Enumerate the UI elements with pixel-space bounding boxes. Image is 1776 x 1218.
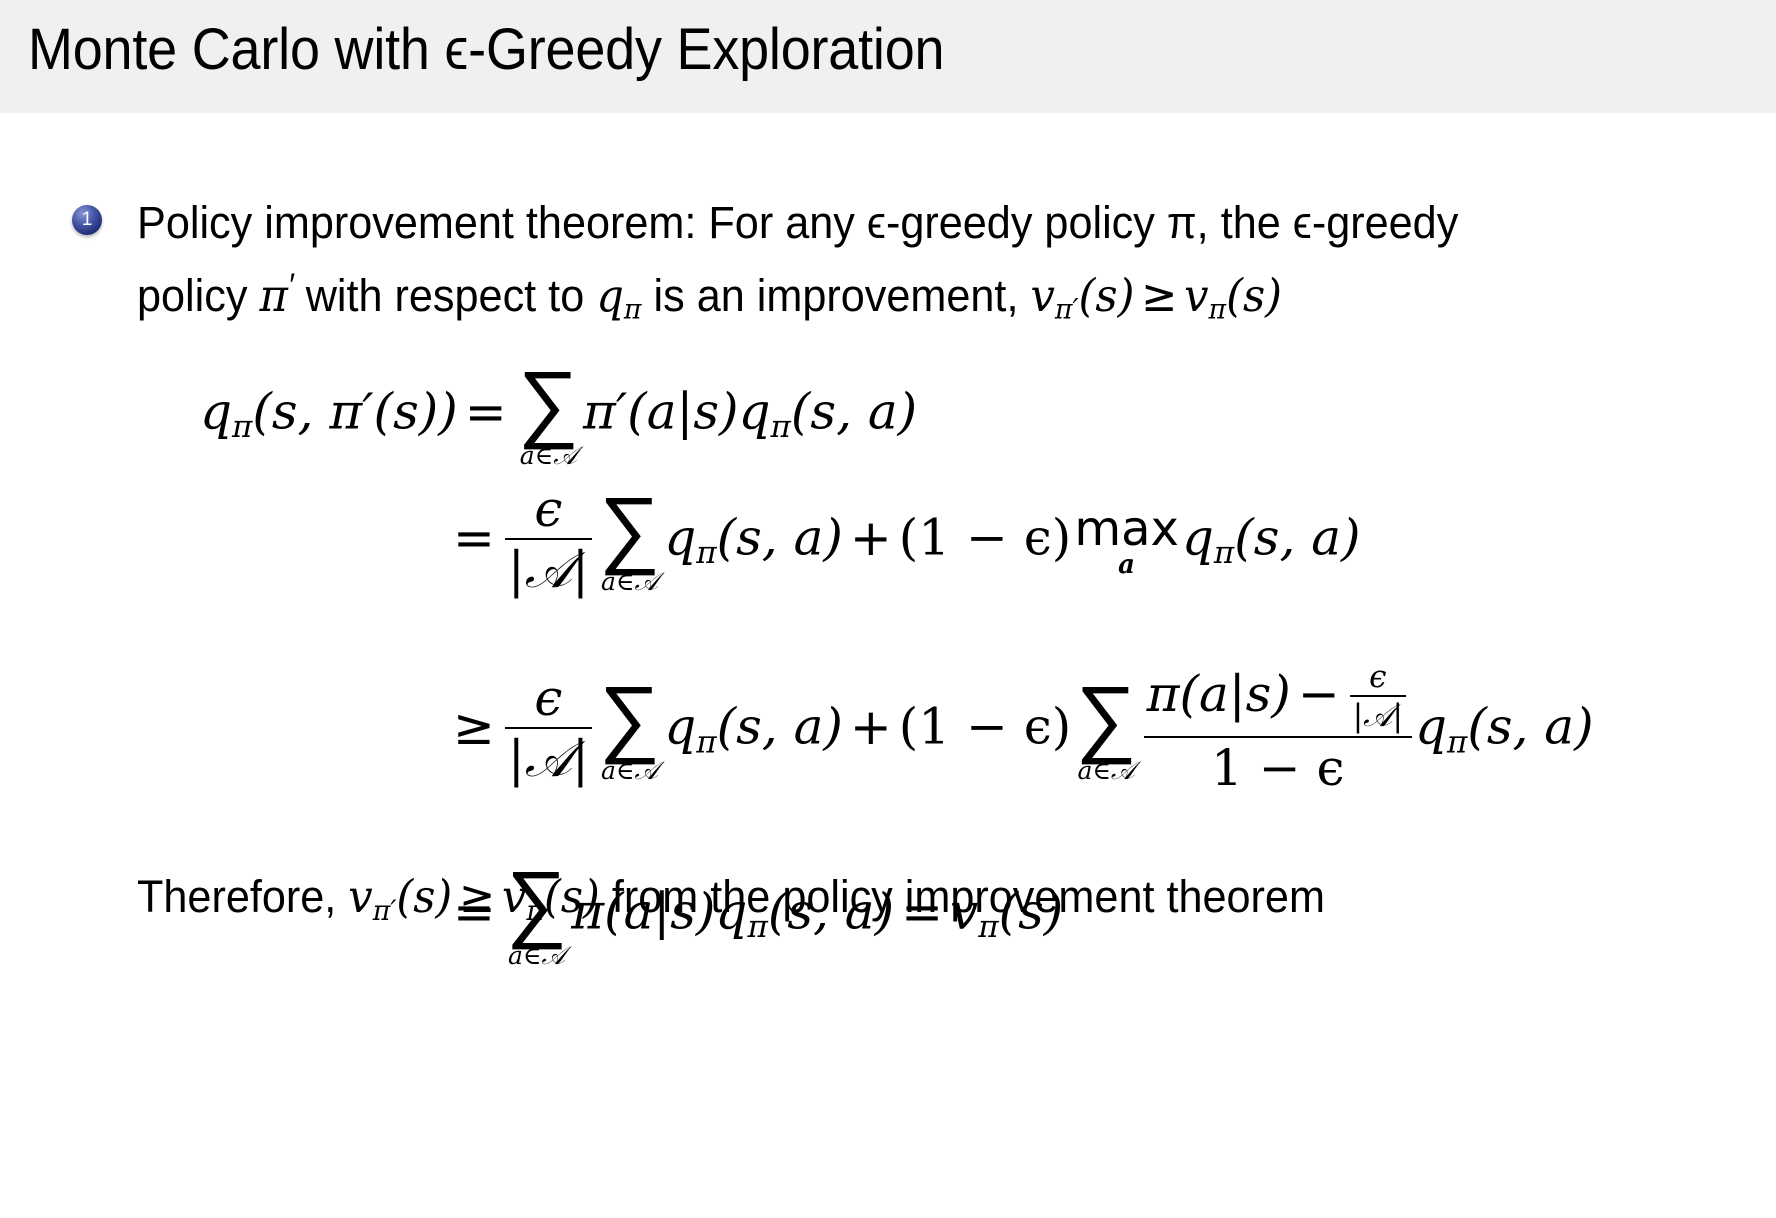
eq3-tail-q-args: (s, a): [1467, 698, 1593, 756]
closing-v1: v: [348, 870, 372, 923]
equation-line-2: = ϵ |𝒜| ∑ a∈𝒜 qπ(s, a)+(1 − ϵ) max a qπ(…: [446, 483, 1361, 600]
eq2-q-args: (s, a): [717, 509, 843, 567]
slide-content: 1 Policy improvement theorem: For any ϵ-…: [0, 113, 1776, 1218]
eq3-inner-fraction: ϵ |𝒜|: [1350, 660, 1406, 734]
page-title: Monte Carlo with ϵ-Greedy Exploration: [28, 16, 944, 83]
eq1-policy-term: π′(a|s): [583, 383, 739, 441]
eq1-lhs-args: (s, π′(s)): [252, 383, 457, 441]
sum-icon: ∑: [599, 489, 660, 568]
bullet-line-1: Policy improvement theorem: For any ϵ-gr…: [137, 192, 1515, 254]
eq3-frac-numerator: ϵ: [505, 670, 592, 726]
eq3-inner-frac-den: |𝒜|: [1350, 695, 1406, 734]
eq3-q-sub: π: [696, 724, 716, 760]
eq3-big-fraction: π(a|s)− ϵ |𝒜| 1 − ϵ: [1144, 661, 1412, 796]
eq3-tail-q-sub: π: [1447, 724, 1467, 760]
eq3-inner-frac-num: ϵ: [1350, 660, 1406, 695]
eq2-max-q-sub: π: [1214, 535, 1234, 571]
eq1-q-args: (s, a): [791, 383, 917, 441]
closing-v1-args: (s): [396, 870, 452, 923]
eq3-numerator-policy: π(a|s): [1147, 665, 1291, 723]
eq1-lhs-q: q: [200, 383, 232, 441]
eq1-sum-limit: a∈𝒜: [518, 443, 579, 468]
eq3-bigfrac-denominator: 1 − ϵ: [1144, 736, 1412, 796]
eq1-q-sub: π: [771, 409, 791, 445]
sum-icon: ∑: [518, 363, 579, 442]
eq1-q-term: q: [739, 383, 771, 441]
list-item: 1 Policy improvement theorem: For any ϵ-…: [72, 192, 1732, 341]
eq3-summation-1: ∑ a∈𝒜: [599, 678, 660, 783]
v-args-2: (s): [1226, 269, 1282, 322]
eq3-geq: ≥: [453, 698, 495, 756]
eq2-plus: +: [850, 509, 892, 567]
bullet-line2-post: is an improvement,: [641, 270, 1030, 321]
eq3-sum2-limit: a∈𝒜: [1075, 758, 1136, 783]
slide-header-bar: Monte Carlo with ϵ-Greedy Exploration: [0, 0, 1776, 113]
eq2-summation: ∑ a∈𝒜: [599, 489, 660, 594]
enumerate-marker-icon: 1: [72, 205, 102, 235]
eq1-equals: =: [465, 383, 507, 441]
pi-symbol: π: [259, 269, 287, 322]
closing-post: from the policy improvement theorem: [600, 871, 1325, 922]
bullet-line2-mid: with respect to: [294, 270, 597, 321]
eq2-epsilon-fraction: ϵ |𝒜|: [505, 481, 592, 598]
geq-symbol: ≥: [1141, 269, 1177, 322]
closing-pre: Therefore,: [137, 871, 348, 922]
closing-statement: Therefore, vπ′(s)≥vπ(s) from the policy …: [137, 870, 1325, 927]
bullet-line2-pre: policy: [137, 270, 259, 321]
eq3-q-term: q: [664, 698, 696, 756]
closing-geq: ≥: [459, 870, 495, 923]
eq1-lhs-sub: π: [232, 409, 252, 445]
v-subscript-2: π: [1209, 293, 1227, 326]
eq2-max-q: q: [1182, 509, 1214, 567]
enumerate-marker-number: 1: [82, 210, 93, 229]
eq2-equals: =: [453, 509, 495, 567]
sum-icon: ∑: [599, 678, 660, 757]
eq3-frac-denominator: |𝒜|: [505, 727, 592, 787]
eq2-sum-limit: a∈𝒜: [599, 569, 660, 594]
eq3-numerator-minus: −: [1298, 665, 1340, 723]
eq4-sum-limit: a∈𝒜: [506, 943, 567, 968]
eq3-q-args: (s, a): [717, 698, 843, 756]
eq3-tail-q: q: [1415, 698, 1447, 756]
eq2-frac-denominator: |𝒜|: [505, 538, 592, 598]
eq3-factor: (1 − ϵ): [899, 698, 1072, 756]
eq2-q-sub: π: [696, 535, 716, 571]
eq2-frac-numerator: ϵ: [505, 481, 592, 537]
v-symbol-1: v: [1030, 269, 1054, 322]
eq3-sum1-limit: a∈𝒜: [599, 758, 660, 783]
v-args-1: (s): [1079, 269, 1135, 322]
q-subscript: π: [624, 293, 642, 326]
sum-icon: ∑: [1075, 678, 1136, 757]
bullet-paragraph: Policy improvement theorem: For any ϵ-gr…: [137, 192, 1515, 341]
closing-v2-sub: π: [526, 894, 544, 927]
eq3-bigfrac-numerator: π(a|s)− ϵ |𝒜|: [1144, 661, 1412, 735]
eq2-max-q-args: (s, a): [1234, 509, 1360, 567]
closing-v2-args: (s): [544, 870, 600, 923]
v-subscript-1: π′: [1055, 293, 1079, 326]
eq2-max-operator: max a: [1074, 505, 1179, 578]
bullet-line-2: policy π′ with respect to qπ is an impro…: [137, 254, 1515, 341]
eq2-max-label: max: [1074, 505, 1179, 553]
eq3-plus: +: [850, 698, 892, 756]
closing-v1-sub: π′: [373, 894, 397, 927]
eq1-summation: ∑ a∈𝒜: [518, 363, 579, 468]
equation-line-1: qπ(s, π′(s))= ∑ a∈𝒜 π′(a|s)qπ(s, a): [200, 363, 917, 468]
q-symbol: q: [596, 269, 624, 322]
eq2-factor: (1 − ϵ): [899, 509, 1072, 567]
eq3-epsilon-fraction: ϵ |𝒜|: [505, 670, 592, 787]
eq2-q-term: q: [664, 509, 696, 567]
v-symbol-2: v: [1184, 269, 1208, 322]
eq3-summation-2: ∑ a∈𝒜: [1075, 678, 1136, 783]
closing-v2: v: [502, 870, 526, 923]
equation-line-3: ≥ ϵ |𝒜| ∑ a∈𝒜 qπ(s, a)+(1 − ϵ) ∑ a∈𝒜 π(a…: [446, 663, 1594, 798]
